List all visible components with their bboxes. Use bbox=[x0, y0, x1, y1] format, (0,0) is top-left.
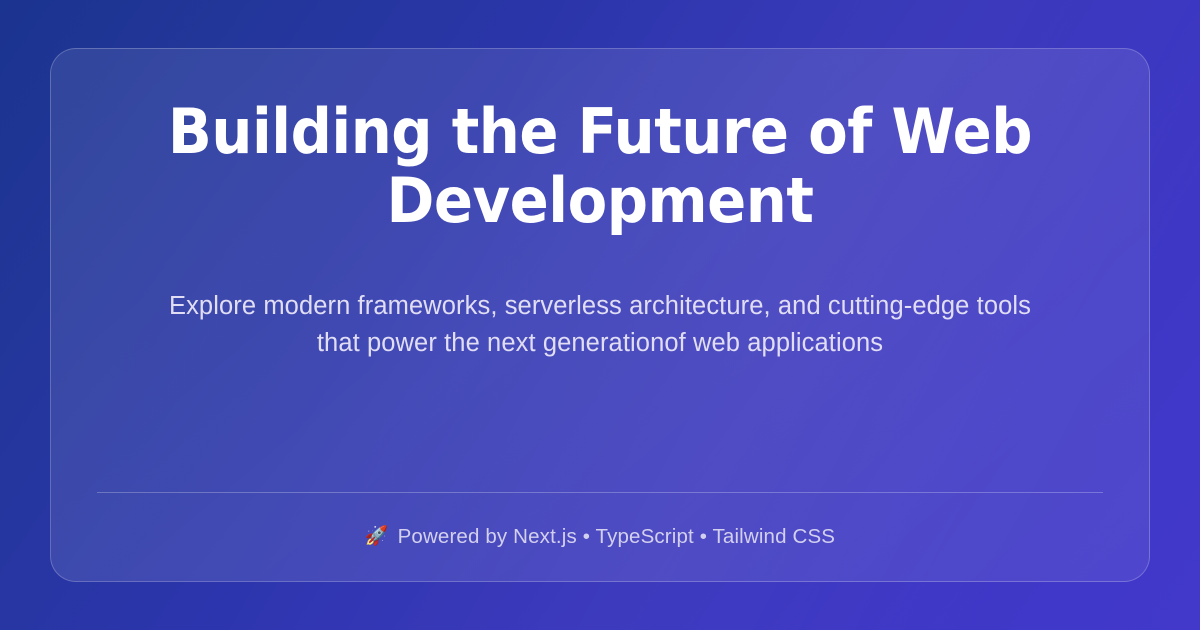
footer-tech-stack-text: Powered by Next.js • TypeScript • Tailwi… bbox=[398, 527, 836, 548]
rocket-icon: 🚀 bbox=[365, 527, 389, 546]
og-image-canvas: Building the Future of Web Development E… bbox=[0, 0, 1200, 630]
content-card: Building the Future of Web Development E… bbox=[50, 48, 1150, 582]
footer-bar: 🚀 Powered by Next.js • TypeScript • Tail… bbox=[97, 493, 1103, 552]
page-title: Building the Future of Web Development bbox=[132, 91, 1068, 236]
page-subtitle: Explore modern frameworks, serverless ar… bbox=[160, 236, 1040, 361]
